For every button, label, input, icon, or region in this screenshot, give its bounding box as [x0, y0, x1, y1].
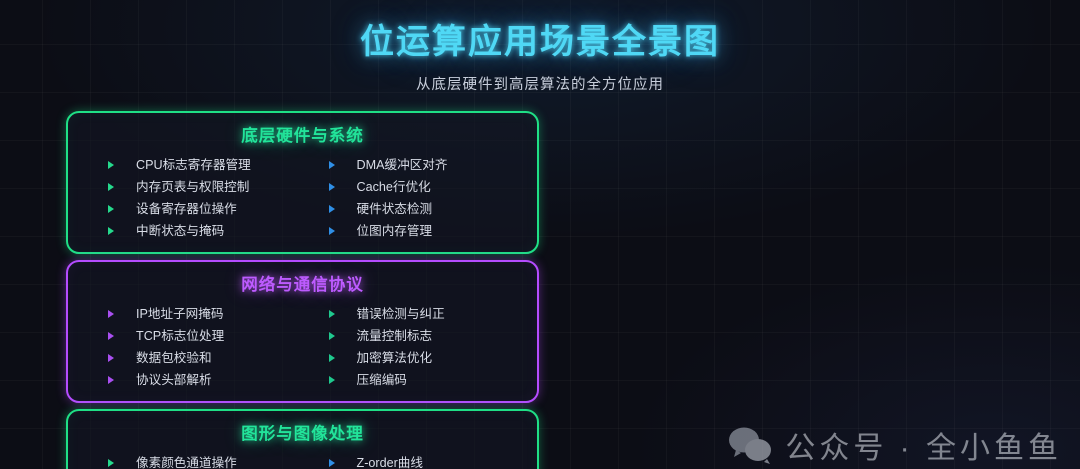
triangle-bullet-icon: [329, 227, 335, 235]
list-item[interactable]: 设备寄存器位操作: [82, 199, 303, 219]
list-item[interactable]: Cache行优化: [303, 177, 524, 197]
card-column-left: CPU标志寄存器管理 内存页表与权限控制 设备寄存器位操作 中断状态与掩码: [82, 155, 303, 241]
list-item-label: 协议头部解析: [136, 370, 212, 390]
list-item[interactable]: 位图内存管理: [303, 221, 524, 241]
card-item-columns: CPU标志寄存器管理 内存页表与权限控制 设备寄存器位操作 中断状态与掩码 DM…: [82, 155, 523, 241]
card-title: 图形与图像处理: [82, 420, 523, 444]
triangle-bullet-icon: [329, 161, 335, 169]
list-item-label: 内存页表与权限控制: [136, 177, 249, 197]
page-header: 位运算应用场景全景图 从底层硬件到高层算法的全方位应用: [0, 0, 1080, 94]
triangle-bullet-icon: [329, 376, 335, 384]
card-column-left: 像素颜色通道操作 位图压缩算法 图像滤波优化 透明度混合: [82, 453, 303, 469]
list-item-label: 压缩编码: [357, 370, 407, 390]
triangle-bullet-icon: [108, 332, 114, 340]
triangle-bullet-icon: [329, 354, 335, 362]
list-item-label: 错误检测与纠正: [357, 304, 445, 324]
list-item[interactable]: 内存页表与权限控制: [82, 177, 303, 197]
list-item[interactable]: 数据包校验和: [82, 348, 303, 368]
page-subtitle: 从底层硬件到高层算法的全方位应用: [0, 73, 1080, 94]
list-item[interactable]: Z-order曲线: [303, 453, 524, 469]
category-card-hardware: 底层硬件与系统 CPU标志寄存器管理 内存页表与权限控制 设备寄存器位操作 中断…: [66, 111, 539, 254]
list-item-label: Cache行优化: [357, 177, 431, 197]
list-item[interactable]: 加密算法优化: [303, 348, 524, 368]
category-card-graphics: 图形与图像处理 像素颜色通道操作 位图压缩算法 图像滤波优化 透明度混合 Z-o…: [66, 409, 539, 469]
card-column-left: IP地址子网掩码 TCP标志位处理 数据包校验和 协议头部解析: [82, 304, 303, 390]
list-item[interactable]: 中断状态与掩码: [82, 221, 303, 241]
list-item-label: DMA缓冲区对齐: [357, 155, 448, 175]
list-item-label: 流量控制标志: [357, 326, 433, 346]
list-item-label: 数据包校验和: [136, 348, 212, 368]
list-item[interactable]: 流量控制标志: [303, 326, 524, 346]
list-item-label: 加密算法优化: [357, 348, 433, 368]
list-item[interactable]: 协议头部解析: [82, 370, 303, 390]
list-item-label: TCP标志位处理: [136, 326, 224, 346]
triangle-bullet-icon: [108, 354, 114, 362]
list-item[interactable]: 像素颜色通道操作: [82, 453, 303, 469]
card-column-right: 错误检测与纠正 流量控制标志 加密算法优化 压缩编码: [303, 304, 524, 390]
list-item-label: 中断状态与掩码: [136, 221, 224, 241]
category-card-network: 网络与通信协议 IP地址子网掩码 TCP标志位处理 数据包校验和 协议头部解析 …: [66, 260, 539, 403]
list-item-label: 像素颜色通道操作: [136, 453, 237, 469]
list-item[interactable]: DMA缓冲区对齐: [303, 155, 524, 175]
list-item-label: 硬件状态检测: [357, 199, 433, 219]
triangle-bullet-icon: [108, 376, 114, 384]
triangle-bullet-icon: [329, 310, 335, 318]
list-item-label: CPU标志寄存器管理: [136, 155, 251, 175]
card-column-right: DMA缓冲区对齐 Cache行优化 硬件状态检测 位图内存管理: [303, 155, 524, 241]
triangle-bullet-icon: [108, 310, 114, 318]
list-item[interactable]: 硬件状态检测: [303, 199, 524, 219]
list-item-label: 设备寄存器位操作: [136, 199, 237, 219]
triangle-bullet-icon: [329, 205, 335, 213]
triangle-bullet-icon: [329, 459, 335, 467]
list-item-label: Z-order曲线: [357, 453, 423, 469]
triangle-bullet-icon: [108, 459, 114, 467]
triangle-bullet-icon: [329, 183, 335, 191]
list-item[interactable]: CPU标志寄存器管理: [82, 155, 303, 175]
list-item[interactable]: IP地址子网掩码: [82, 304, 303, 324]
list-item[interactable]: 压缩编码: [303, 370, 524, 390]
triangle-bullet-icon: [108, 227, 114, 235]
list-item[interactable]: 错误检测与纠正: [303, 304, 524, 324]
card-item-columns: IP地址子网掩码 TCP标志位处理 数据包校验和 协议头部解析 错误检测与纠正 …: [82, 304, 523, 390]
triangle-bullet-icon: [108, 161, 114, 169]
triangle-bullet-icon: [329, 332, 335, 340]
list-item[interactable]: TCP标志位处理: [82, 326, 303, 346]
card-column-right: Z-order曲线 纹理坐标计算 几何变换 渲染优化: [303, 453, 524, 469]
triangle-bullet-icon: [108, 183, 114, 191]
list-item-label: 位图内存管理: [357, 221, 433, 241]
category-card-grid: 底层硬件与系统 CPU标志寄存器管理 内存页表与权限控制 设备寄存器位操作 中断…: [0, 111, 1080, 469]
list-item-label: IP地址子网掩码: [136, 304, 223, 324]
triangle-bullet-icon: [108, 205, 114, 213]
card-title: 网络与通信协议: [82, 271, 523, 295]
card-title: 底层硬件与系统: [82, 122, 523, 146]
card-item-columns: 像素颜色通道操作 位图压缩算法 图像滤波优化 透明度混合 Z-order曲线 纹…: [82, 453, 523, 469]
page-root: 位运算应用场景全景图 从底层硬件到高层算法的全方位应用 底层硬件与系统 CPU标…: [0, 0, 1080, 469]
page-title: 位运算应用场景全景图: [0, 14, 1080, 63]
